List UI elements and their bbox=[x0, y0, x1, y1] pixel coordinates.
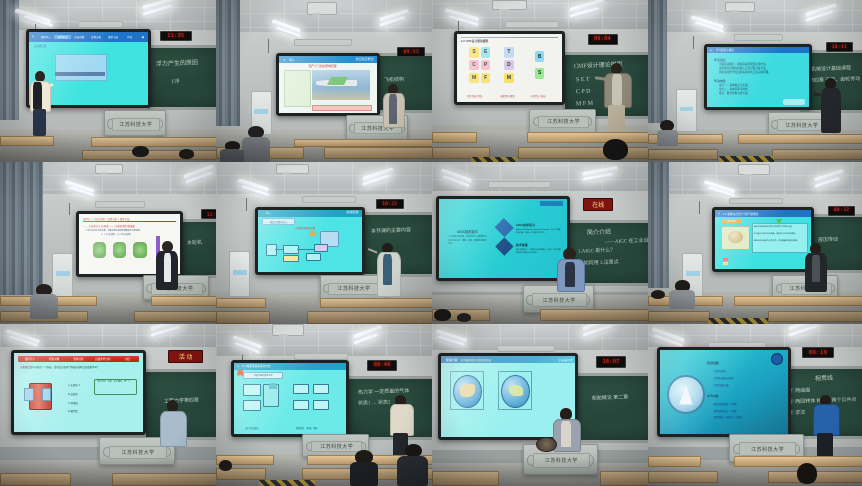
podium-plate-text: 江苏科技大学 bbox=[785, 122, 818, 129]
student-desk bbox=[0, 136, 54, 146]
slide-tab: 现象分析 bbox=[66, 357, 90, 361]
student bbox=[130, 146, 152, 162]
slide-tab: 研究对象 bbox=[42, 357, 66, 361]
slide-section-heading: 学习目标： bbox=[714, 58, 728, 62]
slide-right-body: 依托深度学习、大模型与多模态融合，AIGC 正在重塑内容创作流程与产业生态。 bbox=[516, 249, 562, 255]
chalk-text: 本节课的主要内容 bbox=[371, 227, 411, 237]
curtain-left bbox=[648, 0, 667, 123]
clock-time: 08:32 bbox=[834, 208, 850, 213]
slide-option: B.会滑动 bbox=[68, 392, 77, 396]
chalk-text: F浮 bbox=[172, 79, 180, 88]
slide-right-title: AIGC技术定义 bbox=[516, 223, 536, 227]
projector bbox=[725, 2, 755, 12]
student-desk bbox=[600, 471, 648, 486]
photo-cell-6[interactable]: 本节课的主要内容 10:21 导入 机械原理 知识点回顾与引入 从原理 到实际应… bbox=[216, 162, 432, 324]
slide-left-figure bbox=[721, 226, 750, 250]
student bbox=[177, 149, 196, 162]
air-conditioner bbox=[676, 89, 697, 132]
projection-screen[interactable]: ◎ 学习目标与重点 学习目标： 掌握基本概念，理解基本原理及应用方法。 熟悉典型… bbox=[704, 44, 813, 110]
student bbox=[456, 313, 473, 324]
globe-icon bbox=[453, 375, 482, 408]
student bbox=[350, 450, 378, 486]
cmf-block: M bbox=[504, 73, 514, 84]
projector bbox=[95, 164, 123, 174]
student-desk bbox=[216, 311, 270, 324]
led-clock: 10:21 bbox=[376, 199, 404, 209]
photo-cell-1[interactable]: 浮力产生的原因 F浮 11:35 ◎ 课程导入 基本知识 内容讲解 案例分析 课… bbox=[0, 0, 216, 162]
podium-plate-text: 江苏科技大学 bbox=[547, 118, 580, 125]
photo-cell-9[interactable]: 活 动 工程力学第四章 课程导入 研究对象 现象分析 自锁条件分析 小结 如果螺… bbox=[0, 324, 216, 486]
chalk-text: ③ 求法 bbox=[789, 410, 806, 419]
photo-cell-4[interactable]: 机械设计基础课程 第四章 连接、齿轮传动 10:41 ◎ 学习目标与重点 学习目… bbox=[648, 0, 862, 162]
slide-tab: 课程导入 bbox=[18, 357, 42, 361]
cmf-block: S bbox=[469, 47, 479, 58]
slide-question: 如果螺纹是有可能是一个斜面，请问是沿着哪个斜面运动时是自锁条件吗？ bbox=[20, 366, 137, 370]
cmf-block: T bbox=[504, 47, 514, 58]
slide-cycle-node bbox=[293, 384, 310, 394]
projection-screen[interactable]: 2.2 CMF设计理论模型 S E C P M F T D M B S 感性意象… bbox=[454, 31, 566, 105]
university-emblem bbox=[667, 375, 704, 414]
slide-logo-text: 江苏科技大学 bbox=[558, 358, 572, 362]
presenter bbox=[382, 84, 404, 126]
photo-cell-8[interactable]: 液压传动 08:32 ◎ 1.3 液体动力压力十级气质概念 知识回顾 液体在密闭… bbox=[648, 162, 862, 324]
projection-screen[interactable]: ❄ 8.1 热能传递的基本方式 热量传递的基本方式 蒸汽动力循环 简单制冷（热泵… bbox=[231, 360, 349, 437]
slide-turbine-icon bbox=[269, 383, 277, 389]
slide-logo-icon: ◎ bbox=[715, 212, 723, 215]
led-clock: 09:19 bbox=[802, 347, 834, 359]
student-desk bbox=[320, 298, 432, 308]
led-clock: 11:35 bbox=[160, 31, 192, 41]
photo-cell-5[interactable]: 水轮机 12:1 课程导入 │ 知识讲解 │ 案例分析 │ 课堂小结 一、水轮机… bbox=[0, 162, 216, 324]
slide-navbar: 课程导入 研究对象 现象分析 自锁条件分析 小结 bbox=[18, 356, 140, 362]
student-desk bbox=[648, 311, 710, 323]
cmf-block: E bbox=[481, 47, 491, 58]
slide-line: 液压传动以液体为工作介质，实现能量的传递与控制。 bbox=[754, 240, 799, 243]
slide-line: 能够运用所学知识解决简单的工程实际问题。 bbox=[719, 71, 771, 75]
podium-plate-text: 江苏科技大学 bbox=[119, 121, 152, 128]
led-clock: 16:07 bbox=[596, 356, 626, 368]
photo-cell-10[interactable]: 热力学 一定质量的气体 状态1 → 状态2 08:46 ❄ 8.1 热能传递的基… bbox=[216, 324, 432, 486]
slide-caption: 市场定位 (商业) bbox=[531, 94, 546, 98]
slide-subtitle: 认识离心泵 bbox=[34, 44, 47, 48]
blackboard: 水轮机 bbox=[179, 219, 216, 278]
cmf-block: P bbox=[481, 60, 491, 71]
slide-line: 相贯线的特点（了解） bbox=[713, 409, 738, 413]
air-conditioner bbox=[229, 251, 250, 297]
projection-screen[interactable]: 导入 机械原理 知识点回顾与引入 从原理 到实际应用 bbox=[255, 207, 365, 275]
student bbox=[220, 141, 244, 162]
student bbox=[216, 460, 235, 483]
student-desk bbox=[91, 137, 216, 147]
clock-time: 10:21 bbox=[382, 202, 398, 207]
student-desk bbox=[432, 471, 499, 486]
chalk-text: ① 两曲面 bbox=[789, 387, 811, 396]
slide-tab: 作业 bbox=[121, 35, 138, 39]
student-desk bbox=[151, 296, 216, 306]
slide-section-heading: 本节内容： bbox=[707, 394, 721, 398]
curtain-left bbox=[648, 162, 669, 288]
slide-caption: 简单制冷（热泵）循环 bbox=[296, 426, 318, 430]
student-desk bbox=[307, 311, 432, 324]
slide-badge: 热量传递的基本方式 bbox=[243, 372, 283, 379]
podium-plate-text: 江苏科技大学 bbox=[122, 449, 155, 456]
student bbox=[30, 284, 58, 320]
chalk-text: 2.如何用 3.注意点 bbox=[580, 260, 619, 270]
cmf-block: S bbox=[535, 68, 545, 79]
slide-header: 导入 bbox=[289, 58, 295, 62]
projection-screen[interactable]: AIGC技术定义 人工智能生成内容，是指利用人工智能技术自动生成文本、图像、音频… bbox=[436, 196, 569, 281]
led-clock: 08:46 bbox=[367, 360, 397, 372]
clock-time: 09:04 bbox=[594, 36, 611, 42]
blackboard: 浮力产生的原因 F浮 bbox=[147, 45, 216, 109]
chalk-text: 浮力产生的原因 bbox=[156, 58, 198, 70]
slide-badge: 知识回顾 bbox=[721, 219, 742, 224]
student-desk bbox=[324, 147, 432, 159]
student-desk bbox=[738, 134, 862, 144]
student bbox=[657, 120, 678, 146]
slide-cycle-node bbox=[243, 400, 261, 411]
led-sign-text: 活 动 bbox=[179, 352, 193, 361]
slide-right-body: Artificial Intelligence Generated Conten… bbox=[516, 229, 562, 235]
chalk-text: 状态1 → 状态2 bbox=[358, 399, 391, 409]
student bbox=[242, 126, 270, 162]
led-sign: 在线 bbox=[583, 198, 613, 211]
photo-cell-12[interactable]: 09:19 相贯线 ① 两曲面 ② 两回转体 相交于两个公共点 ③ 求法 知识回… bbox=[648, 324, 862, 486]
slide-tab: 案例分析 bbox=[88, 35, 105, 39]
cmf-block: D bbox=[504, 60, 514, 71]
slide-image-frame bbox=[498, 371, 532, 410]
slide-header: 导入 bbox=[258, 211, 279, 215]
led-clock: 10:41 bbox=[826, 42, 854, 52]
chalk-text: 水轮机 bbox=[187, 240, 202, 249]
slide-tab: 课堂小结 bbox=[105, 35, 122, 39]
slide-navbar: ◎ 学习目标与重点 bbox=[707, 47, 810, 54]
curtain-left bbox=[0, 162, 43, 295]
slide-header: 课程导入 │ 知识讲解 │ 案例分析 │ 课堂小结 bbox=[83, 217, 130, 221]
presenter bbox=[28, 71, 52, 136]
slide-flow-node bbox=[266, 244, 277, 256]
slide-option: C.等滑动 bbox=[68, 401, 78, 405]
chalk-text: S E T bbox=[576, 74, 590, 85]
slide-diamond-icon bbox=[495, 238, 513, 256]
slide-left-title: AIGC技术定义 bbox=[457, 229, 478, 234]
student bbox=[648, 290, 667, 309]
led-clock: 09:53 bbox=[397, 47, 425, 57]
clock-time: 12:1 bbox=[207, 212, 216, 217]
slide-left-body: 人工智能生成内容，是指利用人工智能技术自动生成文本、图像、音频、视频等内容的技术… bbox=[448, 236, 486, 246]
slide-flow-node bbox=[314, 244, 328, 252]
student bbox=[432, 309, 454, 324]
slide-tab: 自锁条件分析 bbox=[91, 357, 115, 361]
slide-tab: 内容讲解 bbox=[71, 35, 88, 39]
photo-grid: 浮力产生的原因 F浮 11:35 ◎ 课程导入 基本知识 内容讲解 案例分析 课… bbox=[0, 0, 862, 486]
projection-screen[interactable]: ✈ 导入 航空航天概论 国产大飞机的研制历程 bbox=[276, 53, 379, 116]
projection-screen[interactable]: 课程导入 研究对象 现象分析 自锁条件分析 小结 如果螺纹是有可能是一个斜面，请… bbox=[11, 350, 147, 435]
slide-course-name: 机械原理 bbox=[346, 210, 358, 214]
slide-tab: 课程导入 bbox=[37, 35, 54, 39]
slide-caption-bar bbox=[312, 105, 372, 111]
slide-section-heading: 知识回顾： bbox=[707, 361, 721, 365]
student bbox=[397, 444, 427, 486]
student-desk bbox=[216, 298, 266, 308]
slide-badge-icon: ◉ bbox=[138, 35, 148, 39]
student-desk bbox=[112, 473, 216, 486]
student-desk bbox=[432, 132, 477, 142]
slide-body: 水轮机是将水流的位能、动能转换为旋转机械能的水力原动机。 bbox=[86, 229, 142, 232]
photo-cell-7[interactable]: 在线 简介介绍 ——AIGC 在工业设计中的应用 1.AIGC 是什么？ 2.如… bbox=[432, 162, 648, 324]
slide-flow-node bbox=[283, 255, 300, 263]
podium-plate-text: 江苏科技大学 bbox=[545, 457, 578, 464]
slide-subtitle: 海洋船舶系统的分类及结构组成 bbox=[461, 358, 492, 362]
slide-title: 8.1 热能传递的基本方式 bbox=[242, 364, 271, 368]
curtain-left bbox=[216, 0, 240, 126]
slide-corner-logo-icon bbox=[771, 353, 783, 365]
curtain-left bbox=[0, 0, 19, 120]
slide-callout: 常见手机、手表、机上螺丝，用一下 bbox=[94, 379, 137, 395]
slide-option: A.无滑动 d bbox=[68, 383, 79, 387]
clock-time: 16:07 bbox=[603, 359, 620, 365]
slide-title: 2.2 CMF设计理论模型 bbox=[461, 39, 489, 43]
slide-title: 国产大飞机的研制历程 bbox=[309, 64, 337, 68]
clock-time: 11:35 bbox=[167, 33, 184, 39]
slide-caption: 功能需求 (理性) bbox=[500, 94, 515, 98]
chalk-text: 船舶概论 第二章 bbox=[592, 394, 629, 404]
podium-plate-text: 江苏科技大学 bbox=[751, 446, 784, 453]
slide-cycle-node bbox=[243, 384, 261, 396]
slide-decoration bbox=[783, 99, 806, 105]
student-desk bbox=[0, 473, 71, 486]
chalk-text: 相贯线 bbox=[815, 374, 833, 385]
led-sign-text: 在线 bbox=[592, 200, 604, 209]
blackboard: 船舶概论 第二章 bbox=[570, 373, 648, 444]
student-desk bbox=[134, 311, 216, 323]
slide-image bbox=[312, 70, 370, 99]
podium: 江苏科技大学 bbox=[529, 109, 596, 134]
slide-navbar: ◎ 课程导入 基本知识 内容讲解 案例分析 课堂小结 作业 ◉ bbox=[29, 32, 148, 41]
chalk-text: 1.AIGC 是什么？ bbox=[578, 248, 616, 258]
cmf-block: B bbox=[535, 51, 545, 62]
slide-legend-swatch bbox=[723, 262, 728, 265]
slide-arrow-icon bbox=[308, 229, 317, 239]
slide-navbar: ❄ 8.1 热能传递的基本方式 bbox=[234, 363, 346, 370]
slide-header: 学习目标与重点 bbox=[716, 48, 734, 52]
cmf-block: C bbox=[469, 60, 479, 71]
slide-header-band bbox=[540, 201, 563, 206]
clock-time: 08:46 bbox=[374, 362, 391, 368]
presenter bbox=[804, 243, 828, 292]
slide-line: 立体的投影 bbox=[713, 369, 726, 373]
slide-logo-icon: ◎ bbox=[707, 49, 716, 52]
slide-figure-bar bbox=[55, 72, 105, 76]
slide-course-name: 航空航天概论 bbox=[356, 57, 374, 61]
podium-plate-text: 江苏科技大学 bbox=[338, 285, 371, 292]
presenter bbox=[813, 395, 839, 457]
slide-cycle-node bbox=[313, 384, 330, 394]
clock-time: 10:41 bbox=[832, 45, 848, 50]
chalk-text: 机械设计基础课程 bbox=[811, 65, 851, 75]
led-clock: 09:04 bbox=[588, 34, 618, 45]
led-clock: 12:1 bbox=[201, 209, 216, 219]
podium-plate-text: 江苏科技大学 bbox=[320, 443, 353, 450]
slide-option: D.都不是 bbox=[68, 409, 78, 413]
clock-time: 09:53 bbox=[404, 50, 420, 55]
slide-line: 立体的截交线 bbox=[713, 383, 728, 387]
student-desk bbox=[772, 149, 862, 161]
student-desk bbox=[734, 296, 862, 306]
photo-cell-3[interactable]: CMF设计理论模型 S E T C P D M F M 09:04 2.2 CM… bbox=[432, 0, 648, 162]
slide-line: 相贯线的概念（了解） bbox=[713, 402, 738, 406]
chalk-text: 简介介绍 bbox=[587, 228, 611, 239]
student bbox=[794, 463, 822, 486]
slide-image-frame bbox=[450, 371, 484, 410]
slide-caption: 感性意象 (情感) bbox=[467, 94, 482, 98]
student-desk bbox=[648, 456, 701, 466]
student bbox=[669, 280, 695, 309]
slide-figure bbox=[133, 242, 146, 258]
slide-line: 相贯线的一般求法（掌握） bbox=[713, 415, 743, 419]
slide-figure bbox=[55, 54, 107, 81]
slide-text-panel bbox=[284, 70, 310, 107]
slide-formula: v₁ = ψ√(2gH) · η = N/(γQH) bbox=[101, 233, 131, 236]
globe-icon bbox=[501, 375, 530, 408]
student-desk bbox=[294, 139, 432, 147]
slide-flow-node bbox=[306, 253, 321, 261]
slide-logo-icon: ✈ bbox=[279, 58, 289, 62]
projection-screen[interactable]: ◎ 1.3 液体动力压力十级气质概念 知识回顾 液体在密闭容器内受外力作用时产生… bbox=[712, 207, 814, 271]
projector bbox=[738, 164, 770, 176]
presenter bbox=[557, 248, 583, 290]
photo-cell-11[interactable]: 16:07 船舶概论 第二章 课程内容 海洋船舶系统的分类及结构组成 江苏科技大… bbox=[432, 324, 648, 486]
slide-cycle-node bbox=[293, 400, 310, 410]
slide-diamond-icon bbox=[494, 218, 513, 237]
presenter bbox=[156, 241, 180, 290]
slide-navbar: ✈ 导入 航空航天概论 bbox=[279, 56, 376, 62]
student-desk bbox=[768, 311, 862, 323]
slide-figure bbox=[113, 242, 126, 258]
slide-arrow-icon bbox=[776, 219, 782, 225]
projector bbox=[272, 324, 304, 336]
projector bbox=[492, 0, 526, 10]
chalk-text: C P D bbox=[576, 87, 591, 98]
presenter bbox=[819, 78, 843, 133]
projection-screen[interactable]: 知识回顾： 立体的投影 立体表面取点取线 立体的截交线 本节内容： 相贯线的概念… bbox=[657, 347, 791, 437]
slide-line: 立体表面取点取线 bbox=[713, 376, 733, 380]
student-desk bbox=[648, 471, 718, 483]
slide-tab: 小结 bbox=[115, 357, 139, 361]
slide-navbar: 导入 机械原理 bbox=[258, 210, 362, 216]
clock-time: 09:19 bbox=[809, 350, 828, 356]
led-sign: 活 动 bbox=[168, 350, 202, 363]
presenter bbox=[160, 400, 186, 445]
slide-logo-icon: ◎ bbox=[29, 35, 37, 38]
slide-section-heading: 学习内容： bbox=[714, 79, 728, 83]
slide-navbar: 课程内容 海洋船舶系统的分类及结构组成 江苏科技大学 bbox=[441, 356, 575, 363]
slide-title: 课程内容 bbox=[445, 358, 457, 362]
slide-nut-figure bbox=[42, 388, 52, 401]
slide-title: 一、水轮机的工作原理 —— 水能转换为机械能 bbox=[84, 224, 135, 228]
projector bbox=[307, 2, 337, 15]
chalk-text: ——AIGC 在工业设计中的应用 bbox=[604, 236, 648, 247]
podium-plate-text: 江苏科技大学 bbox=[543, 297, 576, 304]
slide-line: 难点：典型结构分析方法。 bbox=[719, 92, 750, 96]
slide-title: 1.3 液体动力压力十级气质概念 bbox=[723, 212, 758, 216]
slide-legend-swatch bbox=[723, 258, 728, 261]
cmf-block: F bbox=[481, 73, 491, 84]
podium: 江苏科技大学 bbox=[104, 110, 166, 136]
presenter bbox=[376, 243, 400, 295]
slide-figure bbox=[93, 242, 106, 258]
cmf-block: M bbox=[469, 73, 479, 84]
led-clock: 08:32 bbox=[828, 206, 856, 216]
slide-caption: 蒸汽动力循环 bbox=[245, 426, 258, 430]
student-desk bbox=[540, 309, 648, 321]
slide-tab: 基本知识 bbox=[54, 35, 71, 39]
presenter bbox=[603, 63, 631, 133]
photo-cell-2[interactable]: 飞机结构 09:53 ✈ 导入 航空航天概论 国产大飞机的研制历程 江苏科技大学 bbox=[216, 0, 432, 162]
slide-right-title: 技术背景 bbox=[516, 243, 528, 247]
student-desk bbox=[648, 149, 718, 161]
projector bbox=[276, 164, 308, 174]
slide-subtitle: 知识点回顾与引入 bbox=[262, 218, 295, 224]
slide-line: 压力能可以转化为机械能，通过执行元件对外做功。 bbox=[754, 233, 798, 236]
student bbox=[600, 139, 630, 162]
slide-navbar: ◎ 1.3 液体动力压力十级气质概念 bbox=[715, 210, 811, 216]
slide-line: 液体在密闭容器内受外力作用时产生的压力能。 bbox=[754, 226, 794, 229]
slide-logo-icon: ❄ bbox=[234, 365, 242, 368]
slide-nut-figure bbox=[24, 388, 34, 401]
slide-cycle-node bbox=[313, 400, 330, 410]
slide-ribbon-icon bbox=[237, 370, 243, 376]
